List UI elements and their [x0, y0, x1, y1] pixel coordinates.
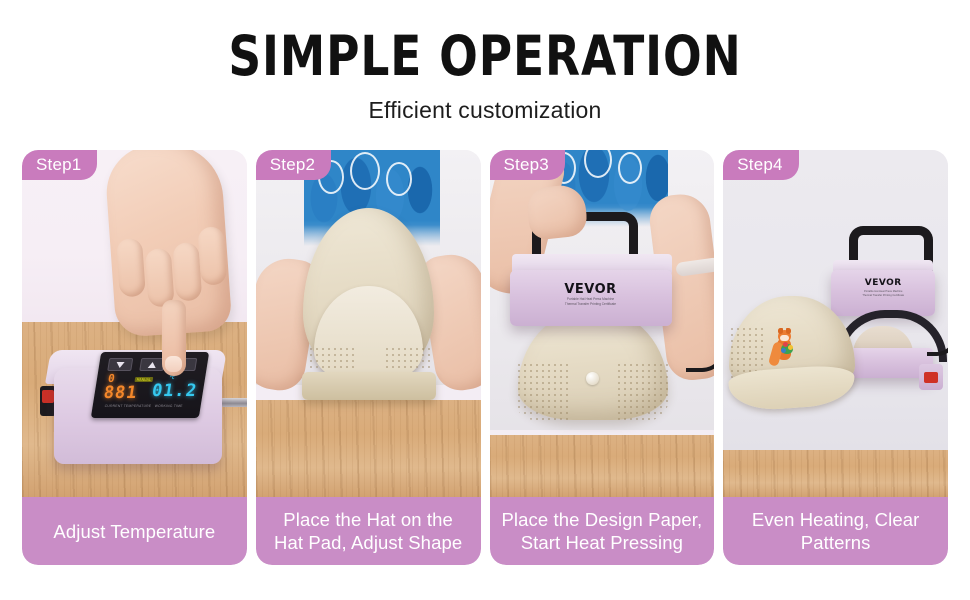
power-cord: [686, 318, 715, 372]
temp-down-button[interactable]: [107, 358, 133, 371]
step-caption-1-text: Adjust Temperature: [53, 520, 215, 543]
step-4-photo: VEVOR Portable Hat Heat Press Machine Th…: [723, 150, 948, 497]
pointing-finger: [162, 300, 186, 376]
step-3-photo: VEVOR Portable Hat Heat Press Machine Th…: [490, 150, 715, 497]
hat-pad: [302, 372, 436, 400]
wood-table: [723, 450, 948, 497]
vevor-sub-line-2: Thermal Transfer Printing Certificate: [510, 303, 672, 307]
infographic-page: SIMPLE OPERATION Efficient customization: [0, 0, 970, 600]
step-caption-2-text: Place the Hat on the Hat Pad, Adjust Sha…: [274, 508, 462, 554]
vevor-logo: VEVOR: [831, 278, 935, 288]
temperature-label: CURRENT TEMPERATURE: [104, 404, 151, 408]
step-1-photo: 0 MANUAL °C 881 CURRENT TEMPERATURE 01.2…: [22, 150, 247, 497]
step-caption-3-text: Place the Design Paper, Start Heat Press…: [501, 508, 702, 554]
cap-button: [586, 372, 599, 385]
header: SIMPLE OPERATION Efficient customization: [0, 0, 970, 140]
mode-badge: MANUAL: [134, 377, 153, 382]
cap-mesh-right: [616, 362, 668, 420]
step-card-4[interactable]: VEVOR Portable Hat Heat Press Machine Th…: [723, 150, 948, 565]
fox-print: [771, 328, 805, 370]
step-caption-2: Place the Hat on the Hat Pad, Adjust Sha…: [256, 497, 481, 565]
step-caption-1: Adjust Temperature: [22, 497, 247, 565]
step-caption-4-text: Even Heating, Clear Patterns: [752, 508, 919, 554]
step-card-2[interactable]: Step2 Place the Hat on the Hat Pad, Adju…: [256, 150, 481, 565]
vevor-sub-line-2: Thermal Transfer Printing Certificate: [831, 294, 935, 298]
fingernail: [165, 356, 182, 372]
timer-readout: 01.2: [150, 381, 198, 401]
wood-table: [256, 400, 481, 497]
chevron-up-icon: [148, 362, 157, 368]
step-caption-3: Place the Design Paper, Start Heat Press…: [490, 497, 715, 565]
control-panel[interactable]: 0 MANUAL °C 881 CURRENT TEMPERATURE 01.2…: [91, 352, 209, 418]
step-badge-2: Step2: [256, 150, 331, 180]
press-cord: [927, 278, 948, 356]
chevron-down-icon: [116, 362, 125, 368]
step-card-3[interactable]: VEVOR Portable Hat Heat Press Machine Th…: [490, 150, 715, 565]
vevor-logo: VEVOR: [510, 282, 672, 297]
temperature-readout: 881: [102, 383, 139, 403]
cap-mesh-left: [516, 362, 568, 420]
step-badge-4: Step4: [723, 150, 798, 180]
step-2-photo: [256, 150, 481, 497]
wood-table: [490, 435, 715, 497]
timer-label: WORKING TIME: [154, 404, 183, 408]
machine-rod: [220, 398, 247, 407]
page-title: SIMPLE OPERATION: [39, 26, 931, 86]
steps-row: 0 MANUAL °C 881 CURRENT TEMPERATURE 01.2…: [22, 150, 948, 565]
page-subtitle: Efficient customization: [0, 97, 970, 124]
step-caption-4: Even Heating, Clear Patterns: [723, 497, 948, 565]
press-switch-red: [924, 372, 938, 383]
step-card-1[interactable]: 0 MANUAL °C 881 CURRENT TEMPERATURE 01.2…: [22, 150, 247, 565]
step-badge-3: Step3: [490, 150, 565, 180]
step-badge-1: Step1: [22, 150, 97, 180]
